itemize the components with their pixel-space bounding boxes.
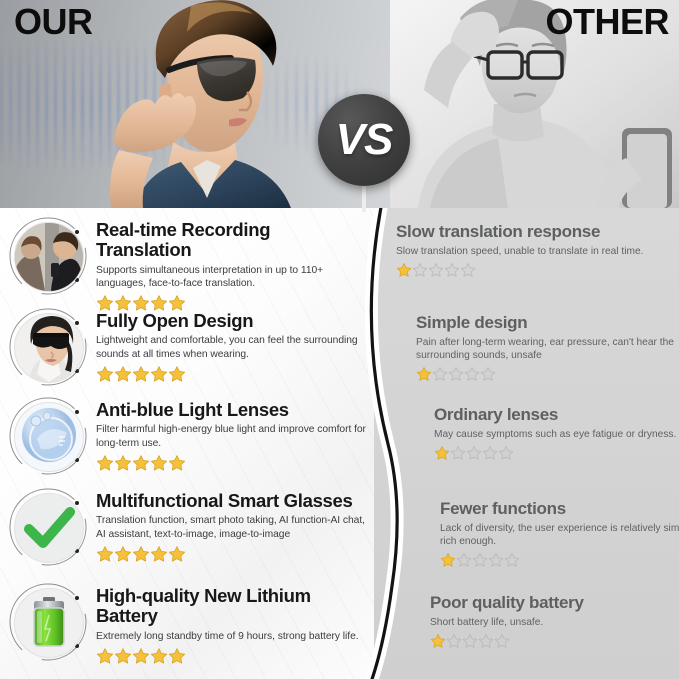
avatar [14, 222, 84, 292]
other-feature-row: Fewer functions Lack of diversity, the u… [440, 500, 679, 568]
star-filled-icon [114, 365, 132, 383]
our-feature-row: Real-time Recording Translation Supports… [0, 216, 374, 312]
star-empty-icon [504, 552, 520, 568]
star-empty-icon [480, 366, 496, 382]
other-feature-desc: Short battery life, unsafe. [430, 616, 679, 629]
our-feature-row: Fully Open Design Lightweight and comfor… [0, 307, 374, 387]
rating-stars [430, 633, 679, 649]
rating-stars [434, 445, 679, 461]
star-empty-icon [488, 552, 504, 568]
other-feature-row: Simple design Pain after long-term weari… [416, 314, 679, 382]
our-feature-icon [8, 396, 88, 476]
other-feature-title: Poor quality battery [430, 594, 679, 613]
our-feature-row: Multifunctional Smart Glasses Translatio… [0, 487, 374, 567]
star-empty-icon [448, 366, 464, 382]
star-empty-icon [498, 445, 514, 461]
our-feature-icon [8, 582, 88, 662]
our-feature-text: Real-time Recording Translation Supports… [96, 216, 368, 312]
star-filled-icon [168, 454, 186, 472]
our-feature-row: High-quality New Lithium Battery Extreme… [0, 582, 374, 665]
star-filled-icon [114, 545, 132, 563]
star-empty-icon [472, 552, 488, 568]
our-feature-row: Anti-blue Light Lenses Filter harmful hi… [0, 396, 374, 476]
other-feature-desc: Lack of diversity, the user experience i… [440, 522, 679, 549]
our-feature-title: Anti-blue Light Lenses [96, 400, 368, 420]
rating-stars [96, 365, 368, 383]
star-empty-icon [478, 633, 494, 649]
star-filled-icon [114, 454, 132, 472]
star-filled-icon [168, 365, 186, 383]
our-feature-text: Anti-blue Light Lenses Filter harmful hi… [96, 396, 368, 472]
other-label: OTHER [546, 4, 670, 40]
panel-divider [330, 208, 440, 679]
star-filled-icon [96, 454, 114, 472]
star-empty-icon [464, 366, 480, 382]
other-feature-title: Simple design [416, 314, 679, 333]
our-feature-text: Fully Open Design Lightweight and comfor… [96, 307, 368, 383]
star-filled-icon [150, 545, 168, 563]
our-feature-icon [8, 487, 88, 567]
our-label: OUR [14, 4, 93, 40]
other-feature-title: Fewer functions [440, 500, 679, 519]
our-feature-icon [8, 216, 88, 296]
star-filled-icon [132, 647, 150, 665]
star-empty-icon [482, 445, 498, 461]
our-feature-desc: Translation function, smart photo taking… [96, 514, 368, 540]
star-filled-icon [96, 647, 114, 665]
star-filled-icon [114, 647, 132, 665]
star-filled-icon [96, 365, 114, 383]
star-filled-icon [168, 545, 186, 563]
green-checkmark-icon [14, 493, 84, 563]
star-empty-icon [456, 552, 472, 568]
star-filled-icon [150, 365, 168, 383]
star-filled-icon [150, 454, 168, 472]
rating-stars [96, 647, 368, 665]
star-filled-icon [440, 552, 456, 568]
our-feature-text: Multifunctional Smart Glasses Translatio… [96, 487, 368, 563]
rating-stars [416, 366, 679, 382]
other-feature-desc: May cause symptoms such as eye fatigue o… [434, 428, 679, 441]
our-feature-title: Real-time Recording Translation [96, 220, 368, 261]
our-product-hero-photo [95, 0, 345, 208]
other-feature-title: Ordinary lenses [434, 406, 679, 425]
star-filled-icon [132, 545, 150, 563]
star-empty-icon [446, 633, 462, 649]
our-feature-title: High-quality New Lithium Battery [96, 586, 368, 627]
our-feature-icon [8, 307, 88, 387]
star-empty-icon [460, 262, 476, 278]
star-empty-icon [462, 633, 478, 649]
star-filled-icon [96, 545, 114, 563]
our-feature-desc: Supports simultaneous interpretation in … [96, 264, 368, 290]
other-feature-row: Ordinary lenses May cause symptoms such … [434, 406, 679, 461]
star-empty-icon [450, 445, 466, 461]
our-feature-title: Fully Open Design [96, 311, 368, 331]
vs-badge-label: VS [318, 94, 410, 186]
our-feature-desc: Extremely long standby time of 9 hours, … [96, 630, 368, 643]
our-feature-text: High-quality New Lithium Battery Extreme… [96, 582, 368, 665]
star-empty-icon [444, 262, 460, 278]
green-battery-icon [14, 588, 84, 658]
star-filled-icon [168, 647, 186, 665]
other-feature-desc: Pain after long-term wearing, ear pressu… [416, 336, 679, 363]
our-feature-title: Multifunctional Smart Glasses [96, 491, 368, 511]
avatar [14, 402, 84, 472]
our-feature-desc: Filter harmful high-energy blue light an… [96, 423, 368, 449]
star-filled-icon [132, 365, 150, 383]
avatar [14, 313, 84, 383]
rating-stars [96, 454, 368, 472]
our-feature-desc: Lightweight and comfortable, you can fee… [96, 334, 368, 360]
rating-stars [440, 552, 679, 568]
star-empty-icon [494, 633, 510, 649]
rating-stars [96, 545, 368, 563]
star-filled-icon [132, 454, 150, 472]
vs-badge: VS [318, 94, 410, 186]
comparison-infographic: OUR OTHER VS [0, 0, 679, 679]
comparison-panels: Real-time Recording Translation Supports… [0, 208, 679, 679]
star-empty-icon [466, 445, 482, 461]
star-filled-icon [150, 647, 168, 665]
other-feature-row: Poor quality battery Short battery life,… [430, 594, 679, 649]
